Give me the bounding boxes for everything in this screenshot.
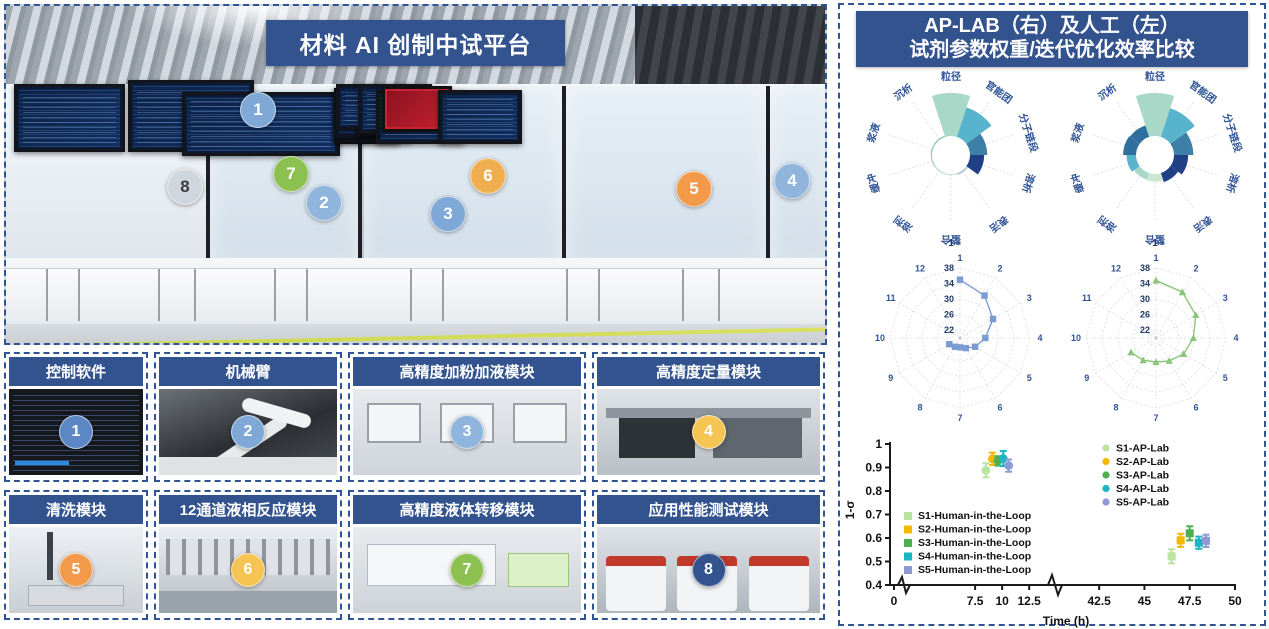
rose-left-human: 粒径官能团分子链段溶析表活螯合溶剂缓冲浆液沉析1 [846, 67, 1056, 252]
svg-text:5: 5 [1223, 373, 1228, 383]
module-card-number-7: 7 [450, 553, 484, 587]
hero-marker-8[interactable]: 8 [167, 169, 203, 205]
svg-text:1-σ: 1-σ [843, 501, 857, 520]
right-column: AP-LAB（右）及人工（左） 试剂参数权重/迭代优化效率比较 粒径官能团分子链… [838, 3, 1266, 626]
svg-text:50: 50 [1228, 594, 1242, 608]
svg-text:S3-AP-Lab: S3-AP-Lab [1116, 470, 1169, 482]
svg-text:34: 34 [944, 279, 954, 289]
polar-chart-row: 1234567891011122226303438 12345678910111… [840, 252, 1264, 430]
module-card-photo-7: 7 [353, 527, 581, 613]
module-card-5[interactable]: 清洗模块5 [4, 490, 148, 620]
svg-text:6: 6 [1193, 402, 1198, 412]
rose-chart-row: 粒径官能团分子链段溶析表活螯合溶剂缓冲浆液沉析1 粒径官能团分子链段溶析表活螯合… [840, 67, 1264, 252]
module-card-number-4: 4 [692, 415, 726, 449]
module-card-photo-3: 3 [353, 389, 581, 475]
module-card-title-8: 应用性能测试模块 [597, 495, 820, 524]
svg-text:S2-AP-Lab: S2-AP-Lab [1116, 456, 1169, 468]
hero-marker-3[interactable]: 3 [430, 196, 466, 232]
svg-text:溶析: 溶析 [1019, 172, 1038, 195]
efficiency-scatter: 0.40.50.60.70.80.9107.51012.542.54547.55… [840, 430, 1264, 629]
left-column: 材料 AI 创制中试平台 17236548 控制软件1机械臂2高精度加粉加液模块… [0, 0, 833, 629]
svg-text:12: 12 [915, 264, 925, 274]
svg-text:11: 11 [886, 293, 896, 303]
svg-text:9: 9 [888, 373, 893, 383]
svg-text:11: 11 [1082, 293, 1092, 303]
module-card-7[interactable]: 高精度液体转移模块7 [348, 490, 586, 620]
right-title-line2: 试剂参数权重/迭代优化效率比较 [856, 39, 1248, 63]
svg-text:0.6: 0.6 [865, 531, 882, 545]
svg-text:表活: 表活 [987, 212, 1012, 235]
module-card-title-4: 高精度定量模块 [597, 357, 820, 386]
svg-text:S1-Human-in-the-Loop: S1-Human-in-the-Loop [918, 510, 1031, 522]
module-card-8[interactable]: 应用性能测试模块8 [592, 490, 825, 620]
module-card-photo-8: 8 [597, 527, 820, 613]
svg-text:沉析: 沉析 [891, 81, 915, 103]
svg-text:0.5: 0.5 [865, 555, 882, 569]
svg-text:表活: 表活 [1191, 212, 1216, 235]
svg-text:0.8: 0.8 [865, 484, 882, 498]
svg-text:34: 34 [1140, 279, 1150, 289]
svg-text:2: 2 [997, 264, 1002, 274]
module-card-photo-2: 2 [159, 389, 337, 475]
module-card-title-3: 高精度加粉加液模块 [353, 357, 581, 386]
module-card-number-1: 1 [59, 415, 93, 449]
right-panel-title: AP-LAB（右）及人工（左） 试剂参数权重/迭代优化效率比较 [856, 11, 1248, 67]
svg-text:10: 10 [995, 594, 1009, 608]
module-card-title-5: 清洗模块 [9, 495, 143, 524]
hero-marker-2[interactable]: 2 [306, 185, 342, 221]
module-card-photo-6: 6 [159, 527, 337, 613]
svg-text:粒径: 粒径 [1145, 70, 1165, 83]
svg-text:S3-Human-in-the-Loop: S3-Human-in-the-Loop [918, 537, 1031, 549]
svg-text:30: 30 [944, 294, 954, 304]
svg-text:7: 7 [957, 413, 962, 423]
module-card-number-5: 5 [59, 553, 93, 587]
svg-text:官能团: 官能团 [1187, 78, 1219, 106]
svg-text:浆液: 浆液 [1068, 121, 1087, 144]
svg-text:沉析: 沉析 [1095, 81, 1119, 103]
polar-left-human: 1234567891011122226303438 [862, 252, 1058, 430]
svg-text:缓冲: 缓冲 [864, 172, 883, 196]
svg-text:1: 1 [957, 253, 962, 263]
svg-text:0: 0 [891, 594, 898, 608]
svg-text:溶剂: 溶剂 [891, 213, 915, 235]
svg-text:8: 8 [1113, 402, 1118, 412]
hero-photo-panel: 材料 AI 创制中试平台 17236548 [4, 4, 827, 345]
polar-chart-aplab: 1234567891011122226303438 [1058, 252, 1254, 430]
rose-chart-human: 粒径官能团分子链段溶析表活螯合溶剂缓冲浆液沉析1 [846, 67, 1056, 252]
svg-text:分子链段: 分子链段 [1016, 112, 1041, 154]
right-title-line1: AP-LAB（右）及人工（左） [856, 15, 1248, 39]
polar-right-aplab: 1234567891011122226303438 [1058, 252, 1254, 430]
svg-text:7.5: 7.5 [967, 594, 984, 608]
module-card-title-2: 机械臂 [159, 357, 337, 386]
svg-text:2: 2 [1193, 264, 1198, 274]
module-card-2[interactable]: 机械臂2 [154, 352, 342, 482]
hero-marker-1[interactable]: 1 [240, 92, 276, 128]
svg-text:9: 9 [1084, 373, 1089, 383]
rose-chart-aplab: 粒径官能团分子链段溶析表活螯合溶剂缓冲浆液沉析1 [1050, 67, 1260, 252]
hero-marker-6[interactable]: 6 [470, 158, 506, 194]
svg-text:S4-AP-Lab: S4-AP-Lab [1116, 483, 1169, 495]
svg-text:3: 3 [1223, 293, 1228, 303]
svg-text:8: 8 [917, 402, 922, 412]
module-card-1[interactable]: 控制软件1 [4, 352, 148, 482]
svg-text:S5-Human-in-the-Loop: S5-Human-in-the-Loop [918, 564, 1031, 576]
module-card-number-6: 6 [231, 553, 265, 587]
svg-text:0.4: 0.4 [865, 578, 882, 592]
svg-text:浆液: 浆液 [864, 121, 883, 144]
svg-text:30: 30 [1140, 294, 1150, 304]
svg-text:1: 1 [1153, 253, 1158, 263]
svg-text:4: 4 [1233, 333, 1238, 343]
module-card-title-7: 高精度液体转移模块 [353, 495, 581, 524]
svg-text:22: 22 [944, 325, 954, 335]
svg-text:Time (h): Time (h) [1043, 614, 1089, 628]
svg-text:0.7: 0.7 [865, 508, 882, 522]
hero-marker-7[interactable]: 7 [273, 156, 309, 192]
svg-text:12: 12 [1111, 264, 1121, 274]
svg-text:分子链段: 分子链段 [1220, 112, 1245, 154]
svg-text:官能团: 官能团 [983, 78, 1015, 106]
svg-text:10: 10 [1071, 333, 1081, 343]
svg-text:47.5: 47.5 [1178, 594, 1202, 608]
svg-text:1: 1 [1152, 238, 1158, 249]
hero-title: 材料 AI 创制中试平台 [266, 20, 566, 66]
lab-photograph: 材料 AI 创制中试平台 17236548 [6, 6, 825, 343]
polar-chart-human: 1234567891011122226303438 [862, 252, 1058, 430]
svg-text:26: 26 [944, 310, 954, 320]
overhead-monitor-1 [14, 84, 125, 152]
module-card-6[interactable]: 12通道液相反应模块6 [154, 490, 342, 620]
module-card-number-2: 2 [231, 415, 265, 449]
svg-text:4: 4 [1037, 333, 1042, 343]
svg-text:溶析: 溶析 [1223, 172, 1242, 195]
module-card-grid: 控制软件1机械臂2高精度加粉加液模块3高精度定量模块4清洗模块512通道液相反应… [4, 352, 827, 625]
svg-text:S1-AP-Lab: S1-AP-Lab [1116, 443, 1169, 455]
svg-text:S2-Human-in-the-Loop: S2-Human-in-the-Loop [918, 524, 1031, 536]
svg-text:6: 6 [997, 402, 1002, 412]
overhead-monitor-11 [438, 90, 522, 144]
svg-text:42.5: 42.5 [1087, 594, 1111, 608]
svg-text:22: 22 [1140, 325, 1150, 335]
module-card-4[interactable]: 高精度定量模块4 [592, 352, 825, 482]
module-card-number-8: 8 [692, 553, 726, 587]
hero-marker-5[interactable]: 5 [676, 171, 712, 207]
svg-text:溶剂: 溶剂 [1095, 213, 1119, 235]
svg-text:38: 38 [1140, 263, 1150, 273]
hero-marker-4[interactable]: 4 [774, 163, 810, 199]
rose-right-aplab: 粒径官能团分子链段溶析表活螯合溶剂缓冲浆液沉析1 [1050, 67, 1260, 252]
module-card-3[interactable]: 高精度加粉加液模块3 [348, 352, 586, 482]
svg-text:3: 3 [1027, 293, 1032, 303]
svg-text:5: 5 [1027, 373, 1032, 383]
svg-text:缓冲: 缓冲 [1068, 172, 1087, 196]
module-card-photo-4: 4 [597, 389, 820, 475]
module-card-photo-1: 1 [9, 389, 143, 475]
glass-bay-3 [562, 86, 770, 266]
svg-text:7: 7 [1153, 413, 1158, 423]
svg-text:45: 45 [1138, 594, 1152, 608]
svg-text:1: 1 [948, 238, 954, 249]
svg-text:10: 10 [875, 333, 885, 343]
svg-text:S5-AP-Lab: S5-AP-Lab [1116, 497, 1169, 509]
svg-text:1: 1 [875, 437, 882, 451]
efficiency-scatter-chart: 0.40.50.60.70.80.9107.51012.542.54547.55… [840, 430, 1264, 629]
module-card-number-3: 3 [450, 415, 484, 449]
module-card-photo-5: 5 [9, 527, 143, 613]
svg-text:0.9: 0.9 [865, 461, 882, 475]
svg-text:12.5: 12.5 [1018, 594, 1042, 608]
svg-text:粒径: 粒径 [941, 70, 961, 83]
module-card-title-1: 控制软件 [9, 357, 143, 386]
svg-text:S4-Human-in-the-Loop: S4-Human-in-the-Loop [918, 551, 1031, 563]
svg-text:38: 38 [944, 263, 954, 273]
cabinet-row [6, 268, 825, 327]
svg-text:26: 26 [1140, 310, 1150, 320]
module-card-title-6: 12通道液相反应模块 [159, 495, 337, 524]
poster-root: 材料 AI 创制中试平台 17236548 控制软件1机械臂2高精度加粉加液模块… [0, 0, 1269, 629]
